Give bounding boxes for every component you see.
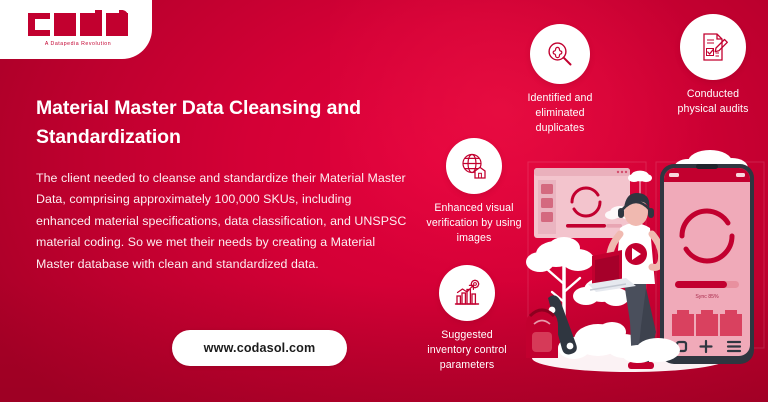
phone-item-cards	[672, 310, 742, 336]
brand-logo[interactable]: A Datapedia Revolution	[26, 10, 130, 47]
feature-icon-circle	[439, 265, 495, 321]
magnifier-duplicate-icon	[545, 39, 575, 69]
phone-notch	[696, 164, 718, 169]
hero-illustration: Sync 85%	[520, 150, 768, 402]
coda-wordmark-icon	[26, 10, 130, 39]
browser-folder-list	[541, 184, 553, 222]
feature-icon-circle	[680, 14, 746, 80]
globe-building-icon	[459, 151, 489, 181]
browser-mockup	[534, 168, 630, 238]
feature-icon-circle	[530, 24, 590, 84]
document-audit-icon	[697, 31, 729, 63]
phone-progress-fill	[675, 281, 727, 288]
feature-label: Suggested inventory control parameters	[404, 328, 530, 373]
feature-visual-verification[interactable]: Enhanced visual verification by using im…	[412, 138, 536, 246]
page-title: Material Master Data Cleansing and Stand…	[36, 94, 408, 152]
feature-icon-circle	[446, 138, 502, 194]
bar-chart-gear-icon	[452, 278, 482, 308]
feature-label: Conducted physical audits	[648, 87, 768, 117]
logo-panel: A Datapedia Revolution	[0, 0, 152, 59]
illustration-canvas: Sync 85%	[520, 150, 768, 402]
cloud-small-icon	[628, 171, 652, 182]
hero-content: Material Master Data Cleansing and Stand…	[36, 94, 408, 275]
brand-tagline: A Datapedia Revolution	[26, 41, 130, 47]
feature-physical-audits[interactable]: Conducted physical audits	[648, 14, 768, 117]
body-paragraph: The client needed to cleanse and standar…	[36, 168, 408, 275]
website-url-button[interactable]: www.codasol.com	[172, 330, 347, 366]
feature-inventory-parameters[interactable]: Suggested inventory control parameters	[404, 265, 530, 373]
phone-progress-label: Sync 85%	[695, 294, 719, 300]
feature-label: Identified and eliminated duplicates	[498, 91, 622, 136]
feature-identified-duplicates[interactable]: Identified and eliminated duplicates	[498, 24, 622, 136]
backpack-icon	[526, 310, 558, 358]
feature-label: Enhanced visual verification by using im…	[412, 201, 536, 246]
phone-mockup: Sync 85%	[660, 164, 754, 364]
